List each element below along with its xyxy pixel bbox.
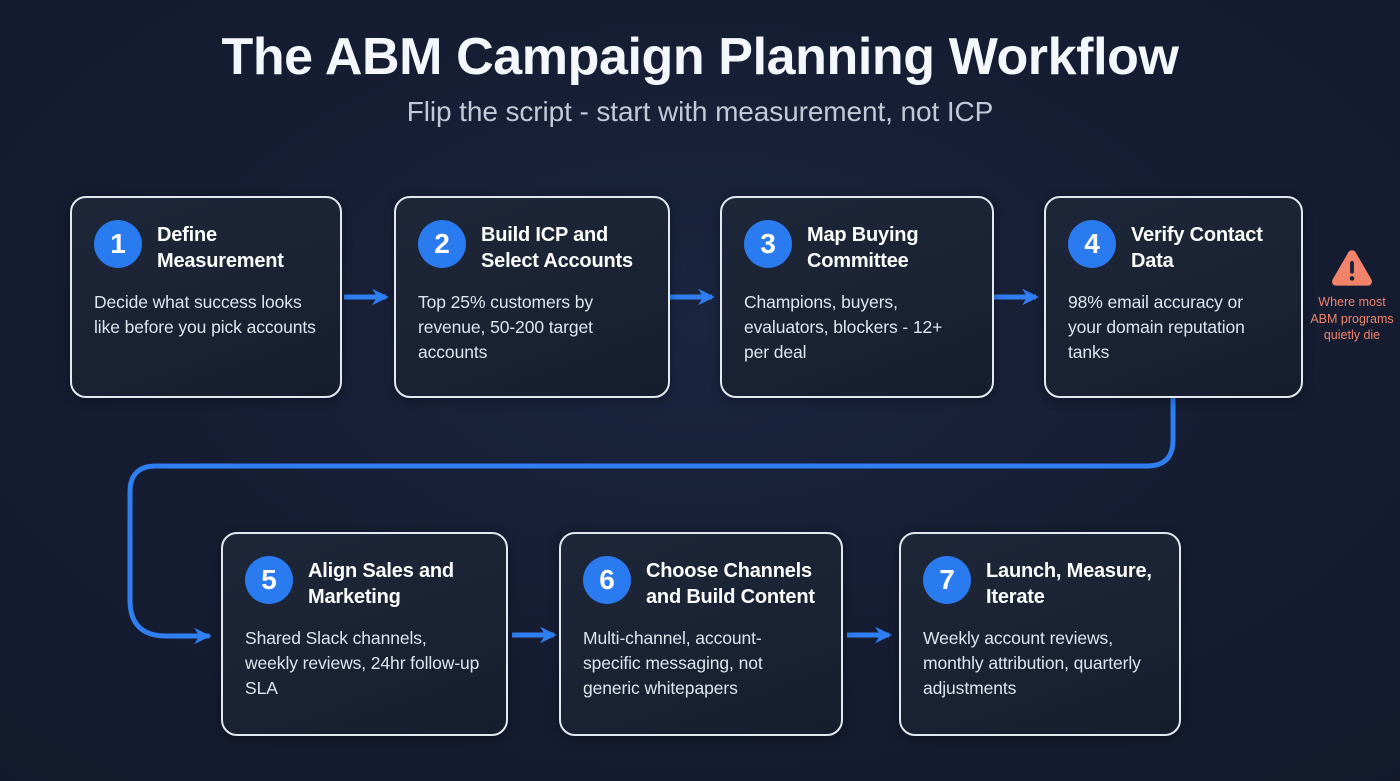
step-title: Map Buying Committee xyxy=(807,220,970,274)
step-number-badge: 5 xyxy=(245,556,293,604)
step-number-badge: 4 xyxy=(1068,220,1116,268)
step-description: Top 25% customers by revenue, 50-200 tar… xyxy=(418,290,646,365)
step-description: Champions, buyers, evaluators, blockers … xyxy=(744,290,970,365)
step-description: Weekly account reviews, monthly attribut… xyxy=(923,626,1157,701)
card-header: 4 Verify Contact Data xyxy=(1068,220,1279,274)
step-card-7[interactable]: 7 Launch, Measure, Iterate Weekly accoun… xyxy=(899,532,1181,736)
card-header: 6 Choose Channels and Build Content xyxy=(583,556,819,610)
step-card-3[interactable]: 3 Map Buying Committee Champions, buyers… xyxy=(720,196,994,398)
card-header: 5 Align Sales and Marketing xyxy=(245,556,484,610)
step-description: Shared Slack channels, weekly reviews, 2… xyxy=(245,626,484,701)
step-number-badge: 2 xyxy=(418,220,466,268)
warning-triangle-icon xyxy=(1330,248,1374,288)
step-title: Build ICP and Select Accounts xyxy=(481,220,646,274)
card-header: 1 Define Measurement xyxy=(94,220,318,274)
step-description: Decide what success looks like before yo… xyxy=(94,290,318,340)
warning-label: Where most ABM programs quietly die xyxy=(1306,294,1398,344)
card-header: 2 Build ICP and Select Accounts xyxy=(418,220,646,274)
page-title: The ABM Campaign Planning Workflow xyxy=(0,28,1400,86)
step-description: 98% email accuracy or your domain reputa… xyxy=(1068,290,1279,365)
card-header: 3 Map Buying Committee xyxy=(744,220,970,274)
step-title: Launch, Measure, Iterate xyxy=(986,556,1157,610)
step-title: Choose Channels and Build Content xyxy=(646,556,819,610)
step-card-4[interactable]: 4 Verify Contact Data 98% email accuracy… xyxy=(1044,196,1303,398)
page-subtitle: Flip the script - start with measurement… xyxy=(0,96,1400,128)
step-number-badge: 7 xyxy=(923,556,971,604)
diagram-header: The ABM Campaign Planning Workflow Flip … xyxy=(0,28,1400,128)
step-number-badge: 3 xyxy=(744,220,792,268)
step-title: Verify Contact Data xyxy=(1131,220,1279,274)
step-title: Define Measurement xyxy=(157,220,318,274)
step-number-badge: 6 xyxy=(583,556,631,604)
step-card-6[interactable]: 6 Choose Channels and Build Content Mult… xyxy=(559,532,843,736)
step-number-badge: 1 xyxy=(94,220,142,268)
card-header: 7 Launch, Measure, Iterate xyxy=(923,556,1157,610)
warning-annotation: Where most ABM programs quietly die xyxy=(1306,248,1398,344)
step-card-2[interactable]: 2 Build ICP and Select Accounts Top 25% … xyxy=(394,196,670,398)
workflow-diagram: The ABM Campaign Planning Workflow Flip … xyxy=(0,0,1400,781)
step-title: Align Sales and Marketing xyxy=(308,556,484,610)
step-card-1[interactable]: 1 Define Measurement Decide what success… xyxy=(70,196,342,398)
step-description: Multi-channel, account-specific messagin… xyxy=(583,626,819,701)
step-card-5[interactable]: 5 Align Sales and Marketing Shared Slack… xyxy=(221,532,508,736)
